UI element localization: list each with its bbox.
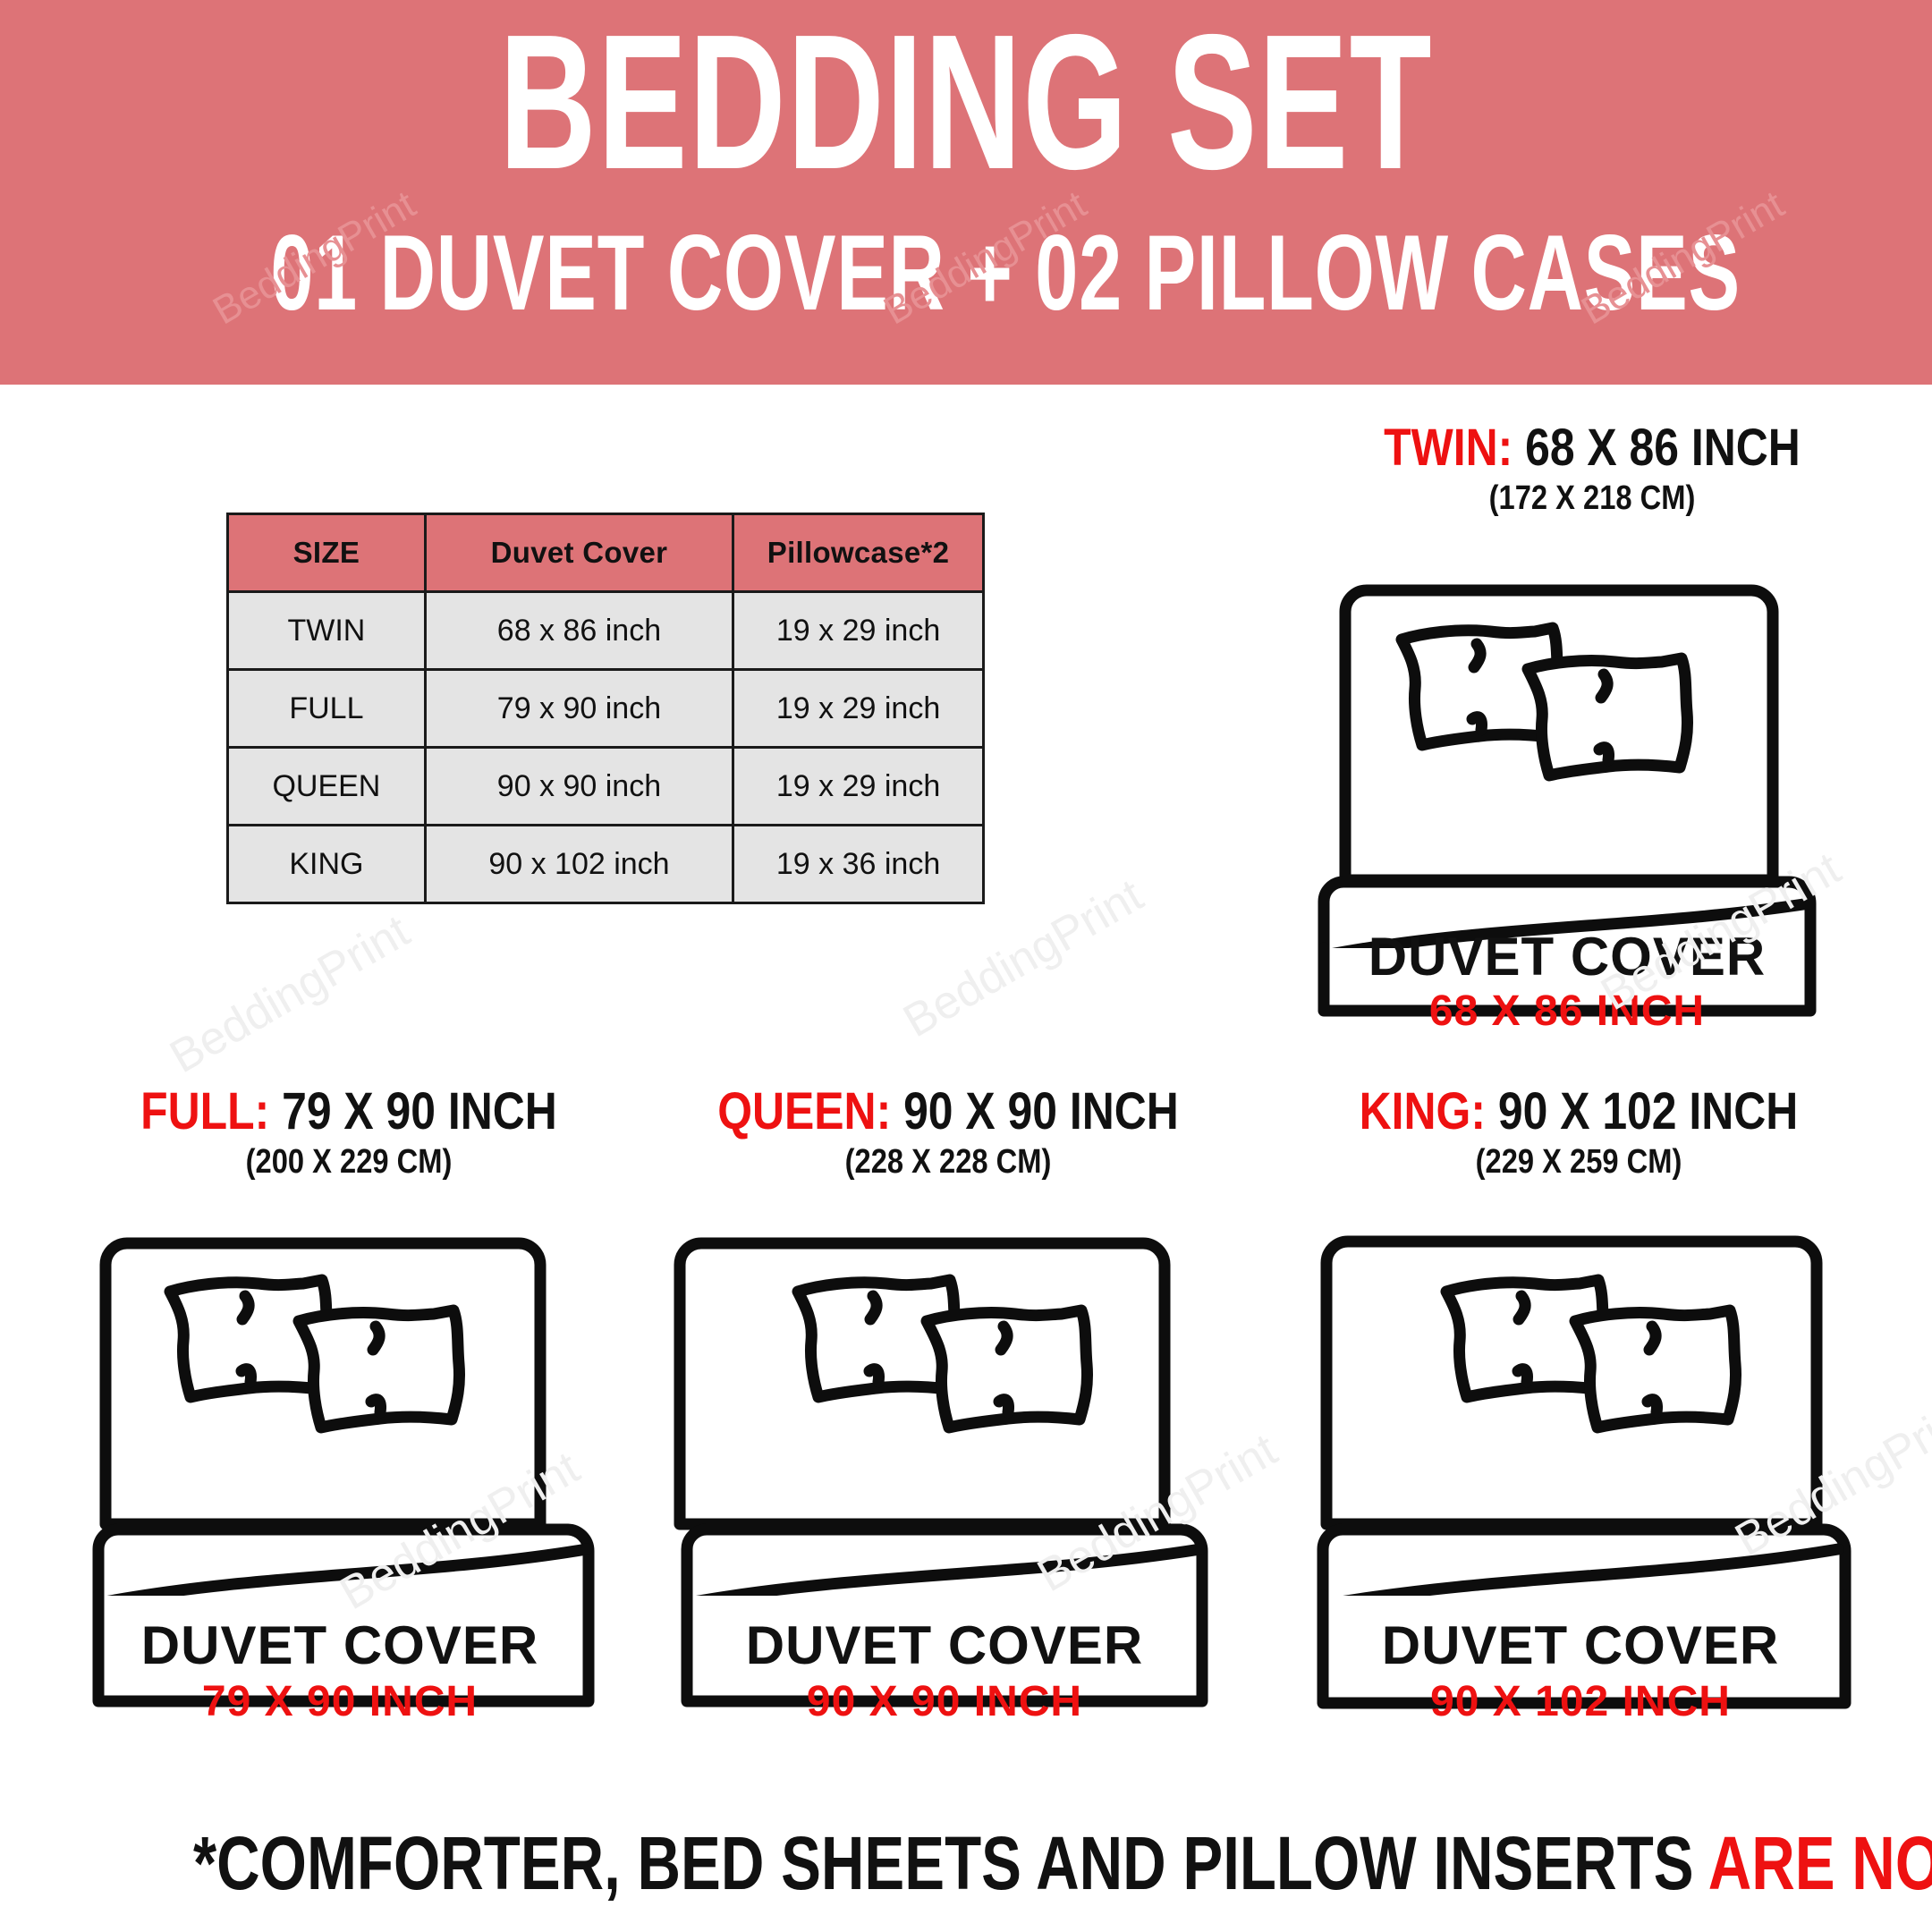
table-row: QUEEN 90 x 90 inch 19 x 29 inch xyxy=(228,748,984,826)
bed-diagram-full: FULL: 79 X 90 INCH (200 X 229 CM) DUVET … xyxy=(54,1084,644,1728)
cell-duvet: 68 x 86 inch xyxy=(425,592,733,670)
table-row: KING 90 x 102 inch 19 x 36 inch xyxy=(228,826,984,903)
header-banner: BEDDING SET 01 DUVET COVER + 02 PILLOW C… xyxy=(0,0,1932,385)
bed-duvet-label: DUVET COVER xyxy=(746,1615,1143,1675)
cell-duvet: 79 x 90 inch xyxy=(425,670,733,748)
cell-pillowcase: 19 x 29 inch xyxy=(733,748,984,826)
bed-diagram-queen: QUEEN: 90 X 90 INCH (228 X 228 CM) DUVET… xyxy=(653,1084,1243,1728)
bed-duvet-label: DUVET COVER xyxy=(141,1615,538,1675)
table-row: FULL 79 x 90 inch 19 x 29 inch xyxy=(228,670,984,748)
bed-size-name: FULL: xyxy=(140,1082,269,1140)
cell-size: TWIN xyxy=(228,592,426,670)
bed-illustration-full: DUVET COVER 79 X 90 INCH xyxy=(72,1191,626,1728)
watermark-text: BeddingPrint xyxy=(161,904,419,1084)
cell-pillowcase: 19 x 36 inch xyxy=(733,826,984,903)
bed-size-cm: (228 X 228 CM) xyxy=(694,1141,1202,1182)
bed-size-name: QUEEN: xyxy=(717,1082,891,1140)
bed-heading-queen: QUEEN: 90 X 90 INCH xyxy=(694,1084,1202,1140)
page-title: BEDDING SET xyxy=(290,5,1642,198)
bed-size-inches: 79 X 90 INCH xyxy=(282,1082,557,1140)
cell-pillowcase: 19 x 29 inch xyxy=(733,592,984,670)
cell-duvet: 90 x 90 inch xyxy=(425,748,733,826)
disclaimer-negation: ARE NOT xyxy=(1708,1821,1932,1905)
bed-size-name: KING: xyxy=(1360,1082,1486,1140)
bed-size-cm: (172 X 218 CM) xyxy=(1311,478,1873,519)
bed-size-inches: 68 X 86 INCH xyxy=(1525,419,1801,477)
cell-size: FULL xyxy=(228,670,426,748)
cell-size: KING xyxy=(228,826,426,903)
page-subtitle: 01 DUVET COVER + 02 PILLOW CASES xyxy=(270,219,1661,326)
bed-size-cm: (229 X 259 CM) xyxy=(1318,1141,1841,1182)
bed-diagram-king: KING: 90 X 102 INCH (229 X 259 CM) DUVET… xyxy=(1275,1084,1883,1728)
bed-heading-twin: TWIN: 68 X 86 INCH xyxy=(1311,420,1873,476)
bed-duvet-size: 90 X 102 INCH xyxy=(1430,1678,1731,1725)
disclaimer-part-one: *COMFORTER, BED SHEETS AND PILLOW INSERT… xyxy=(193,1821,1708,1905)
column-header-duvet: Duvet Cover xyxy=(425,514,733,592)
bed-duvet-size: 90 X 90 INCH xyxy=(807,1678,1082,1725)
cell-pillowcase: 19 x 29 inch xyxy=(733,670,984,748)
bed-diagram-twin: TWIN: 68 X 86 INCH (172 X 218 CM) DUVET … xyxy=(1266,420,1919,1029)
bed-size-inches: 90 X 90 INCH xyxy=(903,1082,1179,1140)
bed-heading-king: KING: 90 X 102 INCH xyxy=(1318,1084,1841,1140)
column-header-size: SIZE xyxy=(228,514,426,592)
bed-duvet-size: 68 X 86 INCH xyxy=(1429,987,1705,1029)
bed-duvet-label: DUVET COVER xyxy=(1368,927,1766,987)
bed-duvet-size: 79 X 90 INCH xyxy=(202,1678,478,1725)
bed-size-cm: (200 X 229 CM) xyxy=(95,1141,603,1182)
bed-size-inches: 90 X 102 INCH xyxy=(1498,1082,1798,1140)
bed-duvet-label: DUVET COVER xyxy=(1382,1615,1779,1675)
bed-heading-full: FULL: 79 X 90 INCH xyxy=(95,1084,603,1140)
bed-size-name: TWIN: xyxy=(1384,419,1513,477)
bed-illustration-queen: DUVET COVER 90 X 90 INCH xyxy=(671,1191,1225,1728)
cell-duvet: 90 x 102 inch xyxy=(425,826,733,903)
bed-illustration-king: DUVET COVER 90 X 102 INCH xyxy=(1292,1191,1865,1728)
size-chart-table: SIZE Duvet Cover Pillowcase*2 TWIN 68 x … xyxy=(226,513,985,904)
bed-illustration-twin: DUVET COVER 68 X 86 INCH xyxy=(1288,528,1896,1029)
table-row: TWIN 68 x 86 inch 19 x 29 inch xyxy=(228,592,984,670)
column-header-pillowcase: Pillowcase*2 xyxy=(733,514,984,592)
cell-size: QUEEN xyxy=(228,748,426,826)
footer-disclaimer: *COMFORTER, BED SHEETS AND PILLOW INSERT… xyxy=(193,1823,1739,1903)
table-header-row: SIZE Duvet Cover Pillowcase*2 xyxy=(228,514,984,592)
